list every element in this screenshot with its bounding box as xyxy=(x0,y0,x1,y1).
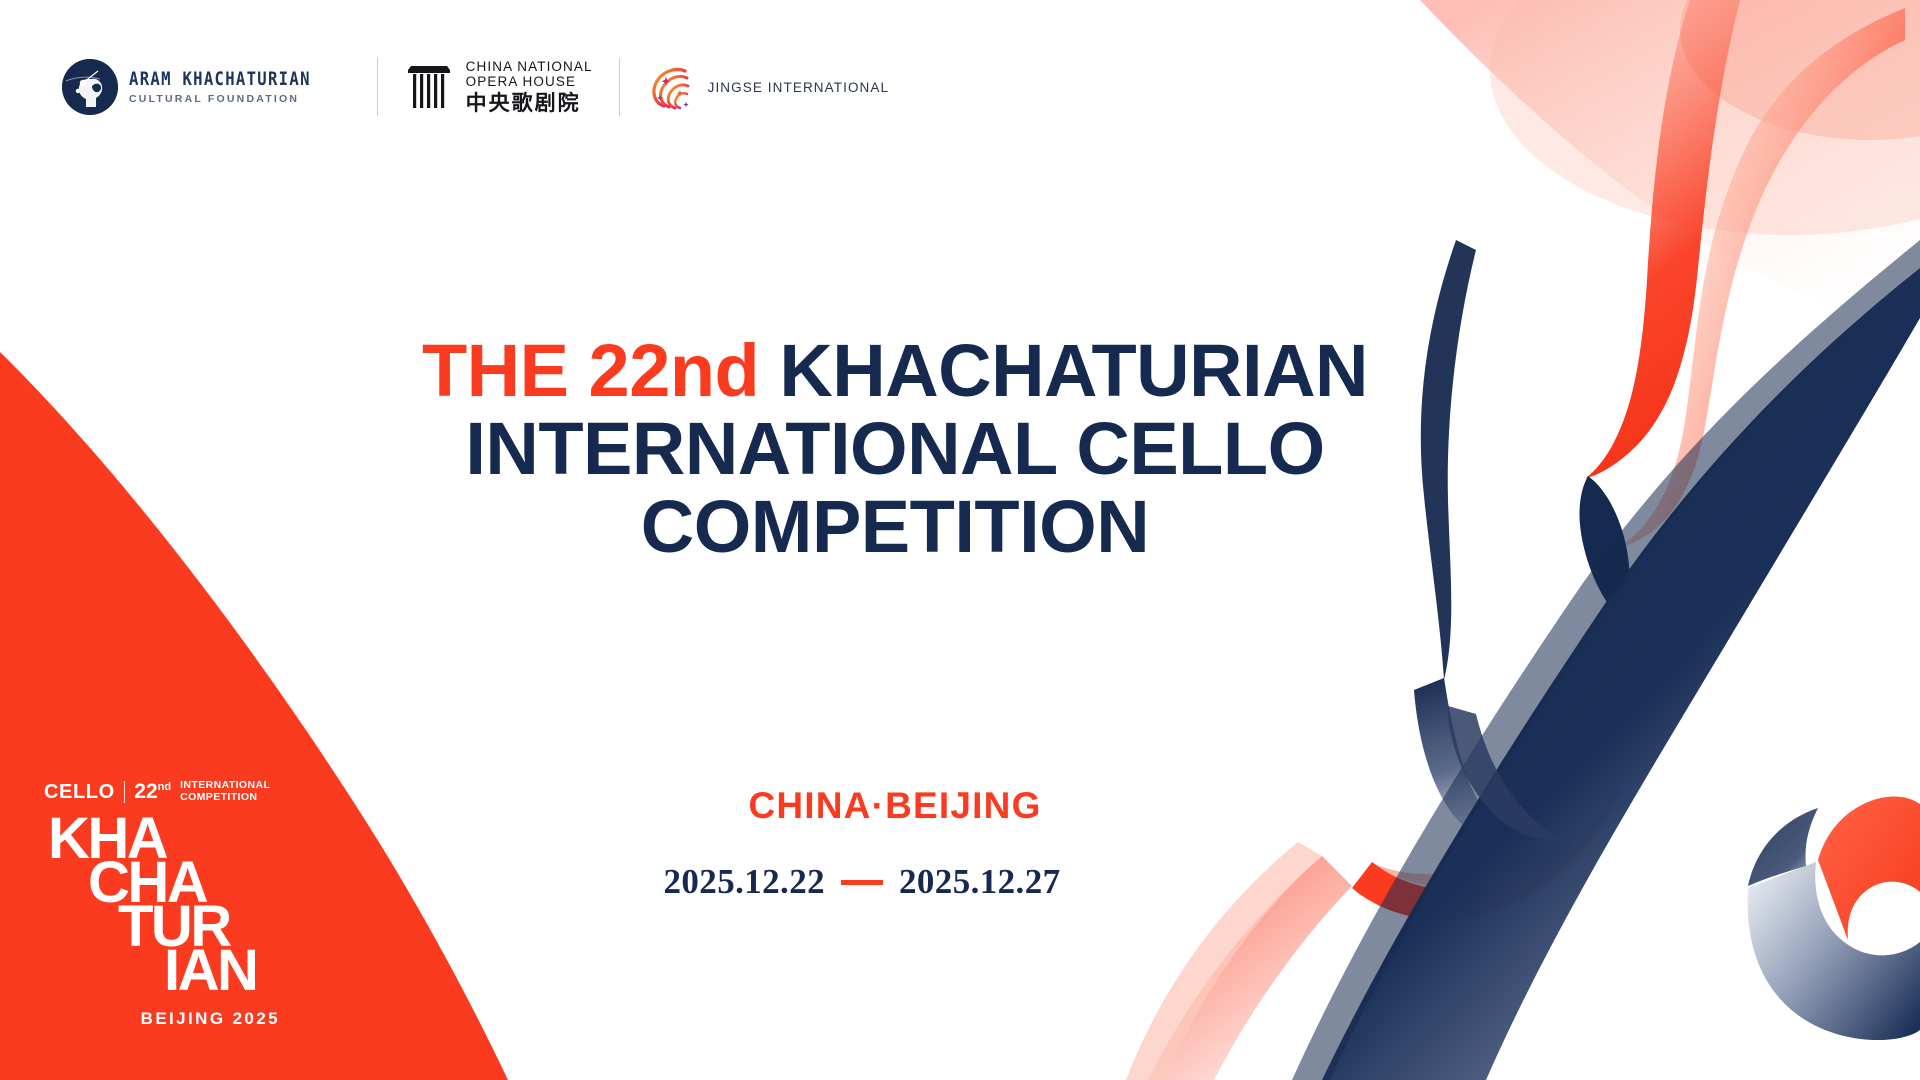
emblem-top-row: CELLO 22nd INTERNATIONAL COMPETITION xyxy=(44,780,284,804)
sponsor-1-text: ARAM KHACHATURIAN CULTURAL FOUNDATION xyxy=(129,70,351,105)
sponsor-2-chinese: 中央歌剧院 xyxy=(466,92,593,116)
emblem-city-year: BEIJING 2025 xyxy=(44,1009,284,1029)
date-separator-dash xyxy=(841,880,883,885)
headline-line-2: INTERNATIONAL CELLO xyxy=(200,410,1590,488)
sponsor-divider-1 xyxy=(377,58,378,116)
emblem-syllable-4: IAN xyxy=(164,942,256,1000)
sponsor-aram-khachaturian-cultural-foundation[interactable]: ARAM KHACHATURIAN CULTURAL FOUNDATION xyxy=(62,59,351,115)
location-city: CHINA·BEIJING xyxy=(0,785,1920,827)
date-start: 2025.12.22 xyxy=(664,862,826,902)
globe-violinist-emblem-icon xyxy=(62,59,118,115)
page-title: THE 22nd KHACHATURIAN INTERNATIONAL CELL… xyxy=(0,332,1920,566)
sponsor-jingse-international[interactable]: JINGSE INTERNATIONAL xyxy=(646,62,890,112)
swirl-globe-icon xyxy=(646,62,696,112)
date-end: 2025.12.27 xyxy=(899,862,1061,902)
sponsor-1-subtitle: CULTURAL FOUNDATION xyxy=(129,94,351,105)
headline-line-3: COMPETITION xyxy=(200,488,1590,566)
sponsor-3-name: JINGSE INTERNATIONAL xyxy=(708,80,890,95)
poster-canvas: ARAM KHACHATURIAN CULTURAL FOUNDATION C xyxy=(0,0,1920,1080)
sponsor-china-national-opera-house[interactable]: CHINA NATIONAL OPERA HOUSE 中央歌剧院 xyxy=(404,59,593,116)
sponsor-2-line1: CHINA NATIONAL xyxy=(466,59,593,74)
sponsor-1-name: ARAM KHACHATURIAN xyxy=(129,70,311,89)
emblem-international-line2: COMPETITION xyxy=(180,792,270,804)
emblem-divider xyxy=(124,781,126,803)
emblem-international-label: INTERNATIONAL COMPETITION xyxy=(180,780,270,804)
event-dates: 2025.12.22 2025.12.27 xyxy=(0,862,1920,902)
headline-edition-prefix: THE 22nd xyxy=(422,329,759,412)
classical-column-icon xyxy=(404,61,454,113)
sponsor-2-line2: OPERA HOUSE xyxy=(466,74,593,89)
sponsor-2-text: CHINA NATIONAL OPERA HOUSE 中央歌剧院 xyxy=(466,59,593,116)
sponsor-logo-bar: ARAM KHACHATURIAN CULTURAL FOUNDATION C xyxy=(62,58,889,116)
emblem-name-stack: KHA CHA TUR IAN xyxy=(46,810,284,1005)
headline-line-1-rest: KHACHATURIAN xyxy=(779,329,1368,412)
emblem-cello-label: CELLO xyxy=(44,781,115,804)
competition-emblem: CELLO 22nd INTERNATIONAL COMPETITION KHA… xyxy=(44,780,284,1029)
sponsor-divider-2 xyxy=(619,58,620,116)
emblem-edition: 22nd xyxy=(134,780,171,804)
headline-line-1: THE 22nd KHACHATURIAN xyxy=(200,332,1590,410)
